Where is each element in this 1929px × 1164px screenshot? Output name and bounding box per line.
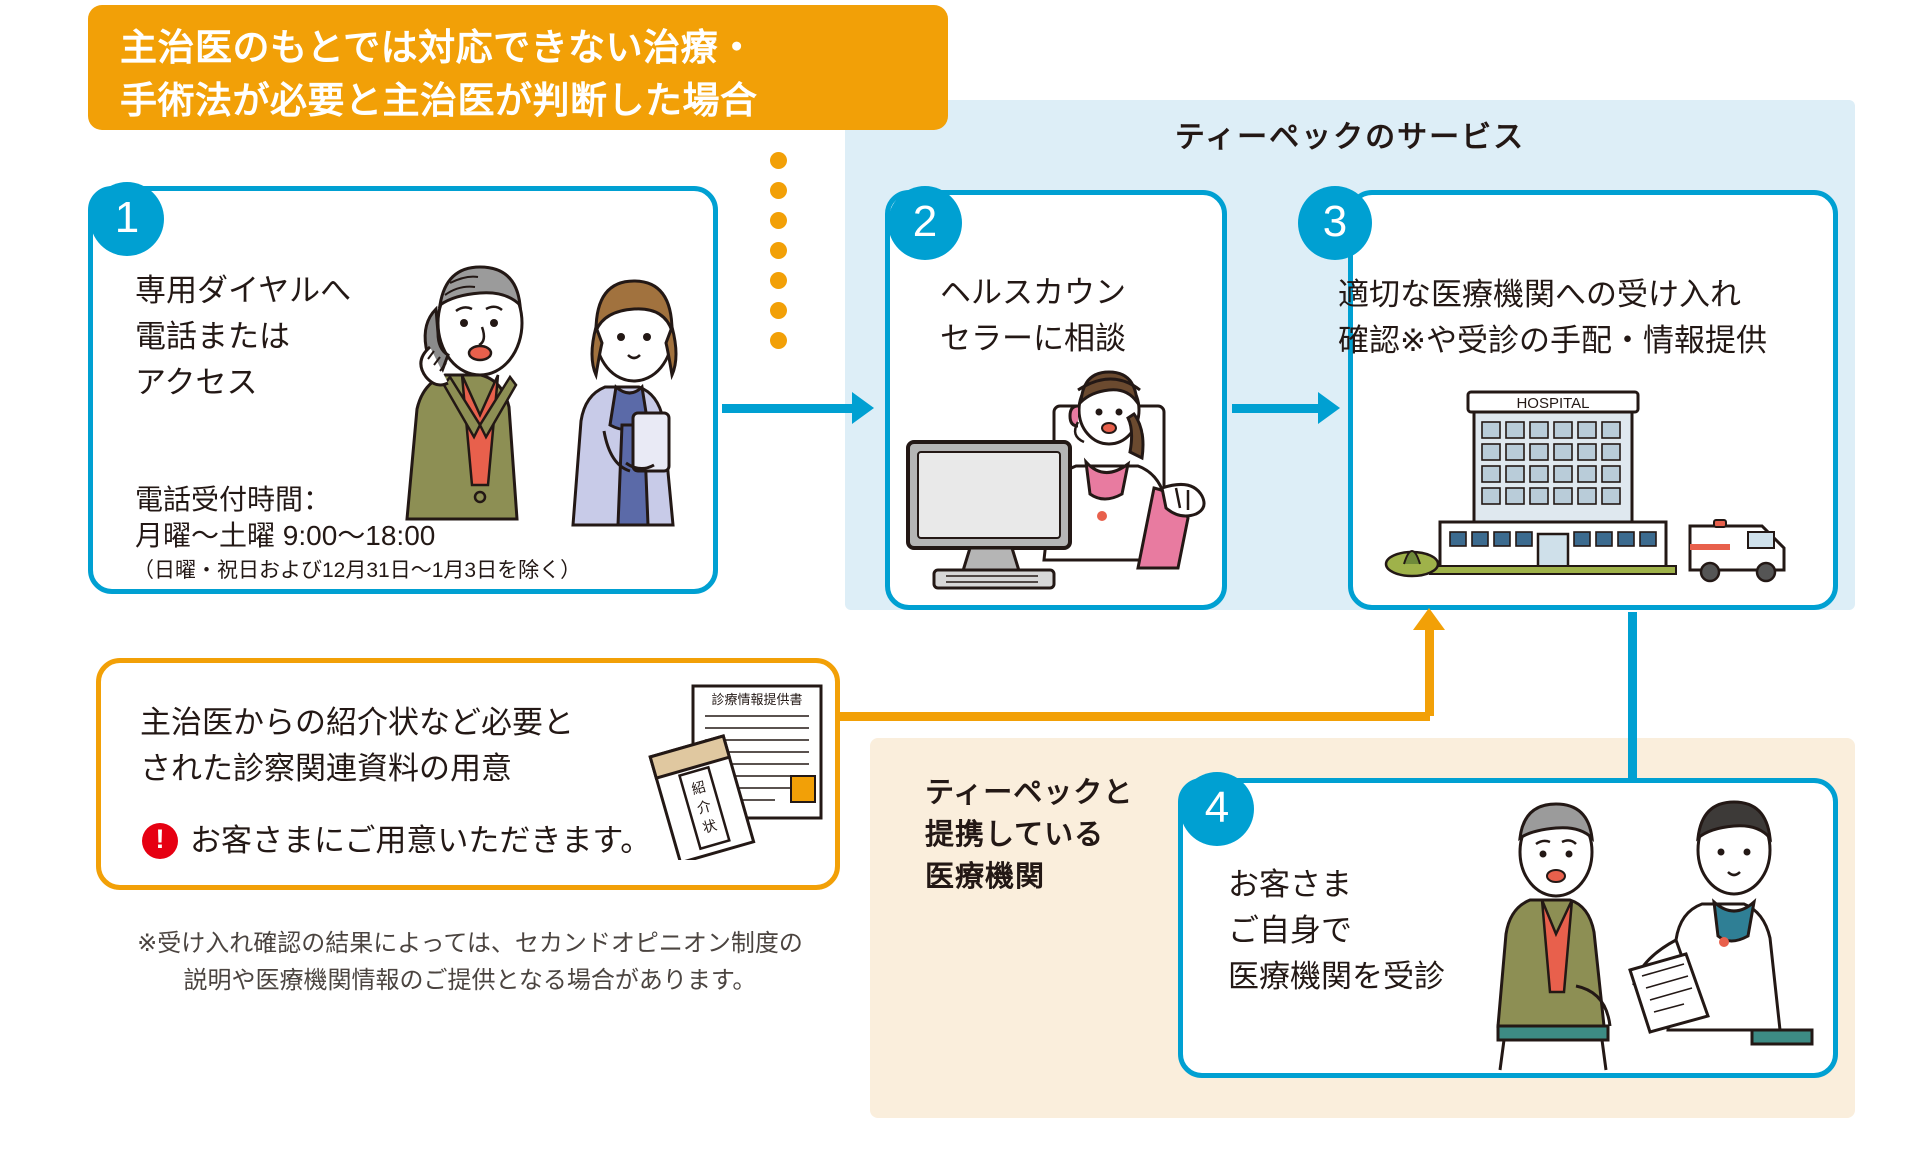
step-3-title-line-1: 適切な医療機関への受け入れ <box>1338 272 1838 318</box>
arrow-step3-to-step4 <box>1628 612 1637 792</box>
documents-connector-line <box>840 712 1430 721</box>
hospital-sign-label: HOSPITAL <box>1516 395 1589 412</box>
patient-and-doctor-illustration <box>1490 790 1830 1080</box>
step-1-title-line-3: アクセス <box>135 360 351 406</box>
step-3-title: 適切な医療機関への受け入れ 確認※や受診の手配・情報提供 <box>1338 272 1838 364</box>
documents-warning-text: お客さまにご用意いただきます。 <box>190 818 651 864</box>
step-1-hours-label: 電話受付時間： <box>135 480 331 521</box>
footnote: ※受け入れ確認の結果によっては、セカンドオピニオン制度の 説明や医療機関情報のご… <box>70 925 870 999</box>
documents-note-text: 主治医からの紹介状など必要と された診察関連資料の用意 <box>140 700 574 792</box>
referral-documents-illustration: 診療情報提供書 紹 介 状 <box>645 680 845 860</box>
footnote-line-1: ※受け入れ確認の結果によっては、セカンドオピニオン制度の <box>70 925 870 962</box>
senior-man-on-phone-illustration <box>390 235 710 585</box>
document-title-label: 診療情報提供書 <box>711 692 802 707</box>
arrow-step1-to-step2 <box>722 404 854 413</box>
arrow-step2-to-step3 <box>1232 404 1320 413</box>
step-4-badge: 4 <box>1180 772 1254 846</box>
step-1-title-line-2: 電話または <box>135 314 351 360</box>
documents-warning-row: ! お客さまにご用意いただきます。 <box>142 818 651 864</box>
partner-title-line-1: ティーペックと <box>925 772 1133 814</box>
banner-line-1: 主治医のもとでは対応できない治療・ <box>120 22 948 75</box>
step-4-title-line-2: ご自身で <box>1228 908 1445 954</box>
dotted-connector <box>770 152 787 349</box>
step-1-title: 専用ダイヤルへ 電話または アクセス <box>135 268 351 406</box>
banner-line-2: 手術法が必要と主治医が判断した場合 <box>120 75 948 128</box>
partner-title-line-3: 医療機関 <box>925 856 1133 898</box>
step-2-title-line-1: ヘルスカウン <box>940 270 1126 316</box>
documents-note-line-2: された診察関連資料の用意 <box>140 746 574 792</box>
exclamation-icon: ! <box>142 823 178 859</box>
step-2-badge: 2 <box>888 186 962 260</box>
footnote-line-2: 説明や医療機関情報のご提供となる場合があります。 <box>70 962 870 999</box>
step-4-title-line-3: 医療機関を受診 <box>1228 954 1445 1000</box>
step-2-title: ヘルスカウン セラーに相談 <box>940 270 1126 362</box>
step-1-badge: 1 <box>90 182 164 256</box>
partner-title-line-2: 提携している <box>925 814 1133 856</box>
documents-note-line-1: 主治医からの紹介状など必要と <box>140 700 574 746</box>
step-3-title-line-2: 確認※や受診の手配・情報提供 <box>1338 318 1838 364</box>
arrow-documents-to-step3 <box>1425 628 1434 716</box>
partner-panel-title: ティーペックと 提携している 医療機関 <box>925 772 1133 898</box>
step-4-title-line-1: お客さま <box>1228 862 1445 908</box>
step-1-title-line-1: 専用ダイヤルへ <box>135 268 351 314</box>
service-panel-title: ティーペックのサービス <box>845 112 1855 156</box>
step-3-badge: 3 <box>1298 186 1372 260</box>
ambulance <box>1690 520 1784 581</box>
step-4-title: お客さま ご自身で 医療機関を受診 <box>1228 862 1445 1000</box>
diagram-canvas: ティーペックのサービス ティーペックと 提携している 医療機関 主治医のもとでは… <box>0 0 1929 1164</box>
health-counselor-illustration <box>900 370 1220 600</box>
step-2-title-line-2: セラーに相談 <box>940 316 1126 362</box>
hospital-building-illustration: HOSPITAL <box>1370 378 1820 593</box>
condition-header-banner: 主治医のもとでは対応できない治療・ 手術法が必要と主治医が判断した場合 <box>88 5 948 130</box>
